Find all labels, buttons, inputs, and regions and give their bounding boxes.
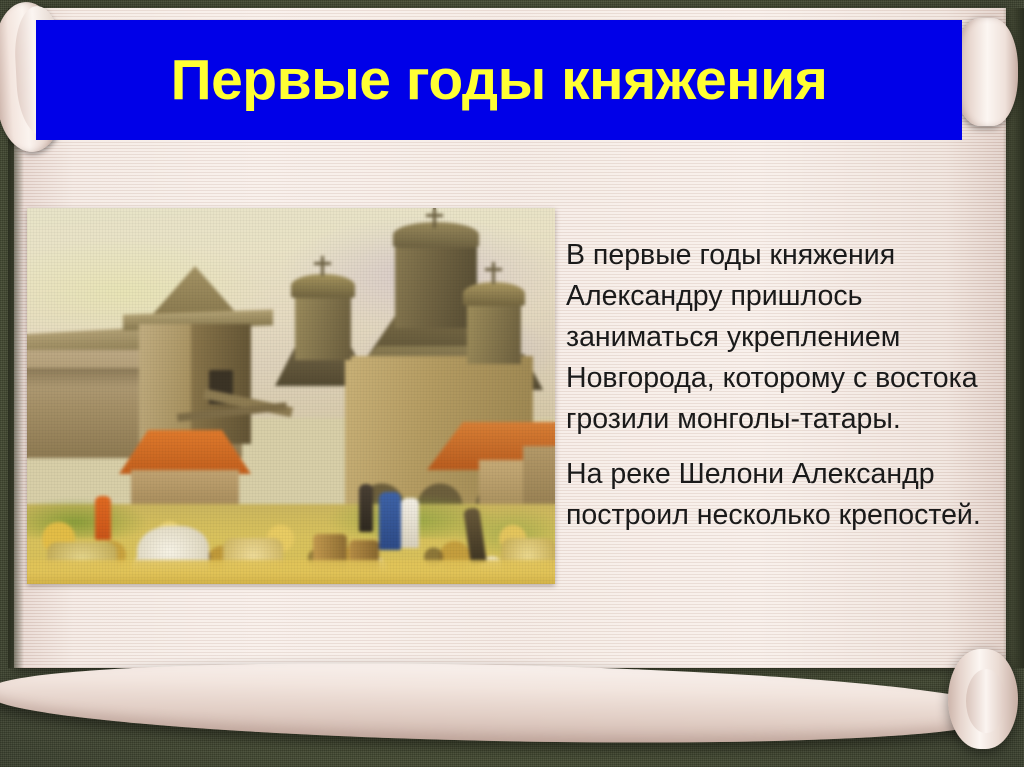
slide-title-bar: Первые годы княжения xyxy=(36,20,962,140)
paragraph-2: На реке Шелони Александр построил нескол… xyxy=(566,454,996,536)
slide-body-text: В первые годы княжения Александру пришло… xyxy=(566,235,996,536)
presentation-slide: Первые годы княжения xyxy=(0,0,1024,767)
paragraph-1: В первые годы княжения Александру пришло… xyxy=(566,235,996,440)
slide-title: Первые годы княжения xyxy=(171,52,828,109)
scroll-roll-top-right xyxy=(954,18,1018,126)
slide-illustration-painting[interactable] xyxy=(27,208,555,584)
painting-canvas-texture xyxy=(27,208,555,584)
scroll-roll-bottom-right-inner xyxy=(966,669,1006,733)
scroll-roll-bottom xyxy=(0,654,1001,751)
